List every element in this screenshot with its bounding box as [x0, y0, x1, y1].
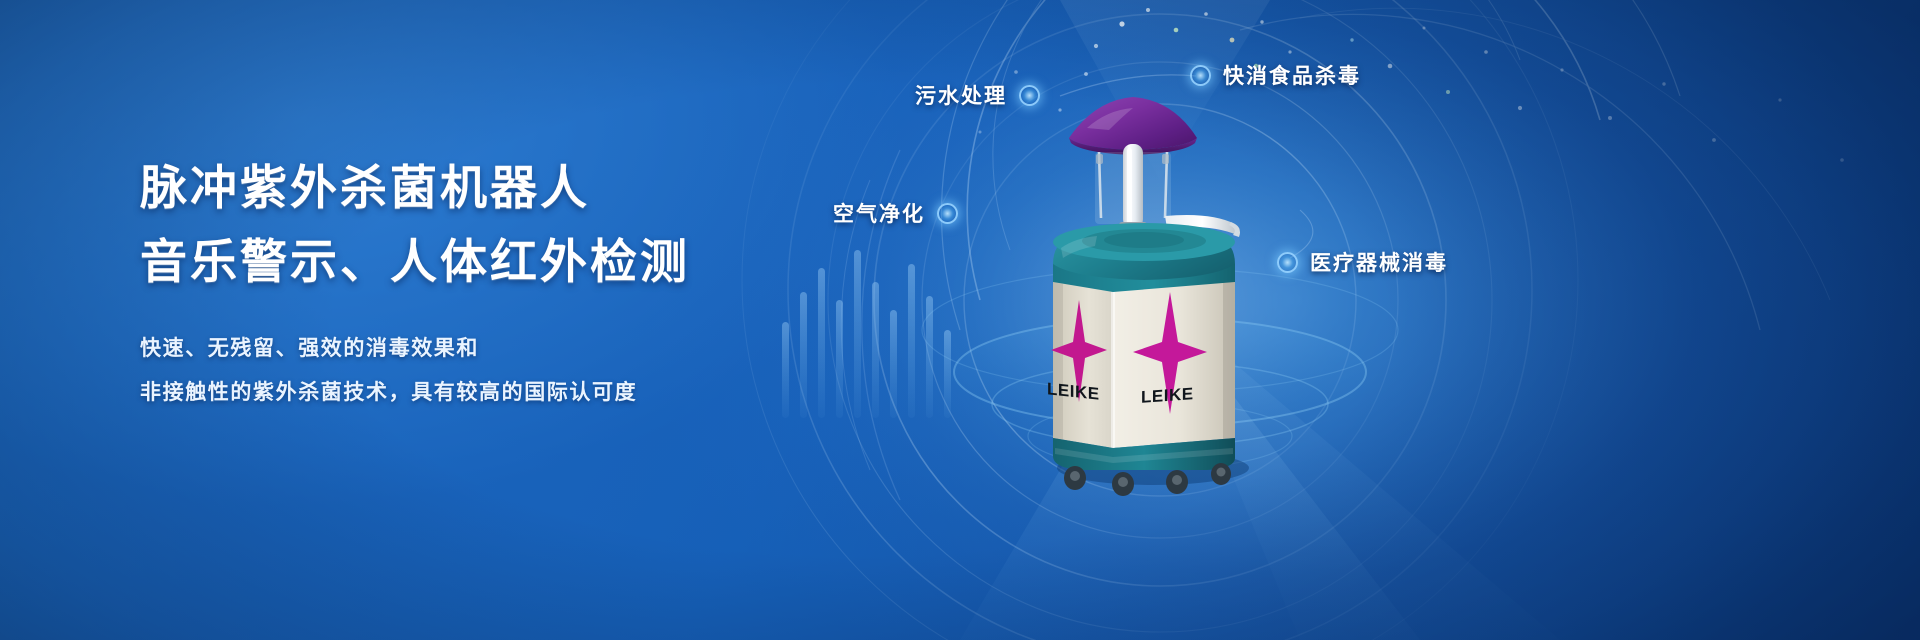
- callout-medical-device-label: 医疗器械消毒: [1310, 247, 1448, 277]
- node-dot-icon: [1019, 85, 1040, 106]
- callout-medical-device[interactable]: 医疗器械消毒: [1277, 247, 1448, 277]
- waveform-decor: [782, 250, 951, 418]
- robot-illustration: [1035, 96, 1285, 496]
- node-dot-icon: [1190, 65, 1211, 86]
- banner-subtitle-block: 快速、无残留、强效的消毒效果和 非接触性的紫外杀菌技术，具有较高的国际认可度: [140, 326, 690, 414]
- headline-line-1: 脉冲紫外杀菌机器人: [140, 152, 690, 226]
- node-dot-icon: [1277, 252, 1298, 273]
- promo-banner: 脉冲紫外杀菌机器人 音乐警示、人体红外检测 快速、无残留、强效的消毒效果和 非接…: [0, 0, 1920, 640]
- banner-text-block: 脉冲紫外杀菌机器人 音乐警示、人体红外检测 快速、无残留、强效的消毒效果和 非接…: [140, 152, 690, 414]
- callout-waste-water-label: 污水处理: [915, 80, 1007, 110]
- callout-food-disinfect-label: 快消食品杀毒: [1223, 60, 1361, 90]
- brand-label-right: LEIKE: [1141, 384, 1194, 408]
- callout-air-purification[interactable]: 空气净化: [833, 198, 958, 228]
- uv-sterilization-robot: LEIKE LEIKE: [1035, 96, 1285, 496]
- headline-line-2: 音乐警示、人体红外检测: [140, 226, 690, 300]
- subtitle-line-2: 非接触性的紫外杀菌技术，具有较高的国际认可度: [140, 370, 690, 414]
- node-dot-icon: [937, 203, 958, 224]
- callout-air-purification-label: 空气净化: [833, 198, 925, 228]
- callout-waste-water[interactable]: 污水处理: [915, 80, 1040, 110]
- callout-food-disinfect[interactable]: 快消食品杀毒: [1190, 60, 1361, 90]
- subtitle-line-1: 快速、无残留、强效的消毒效果和: [140, 326, 690, 370]
